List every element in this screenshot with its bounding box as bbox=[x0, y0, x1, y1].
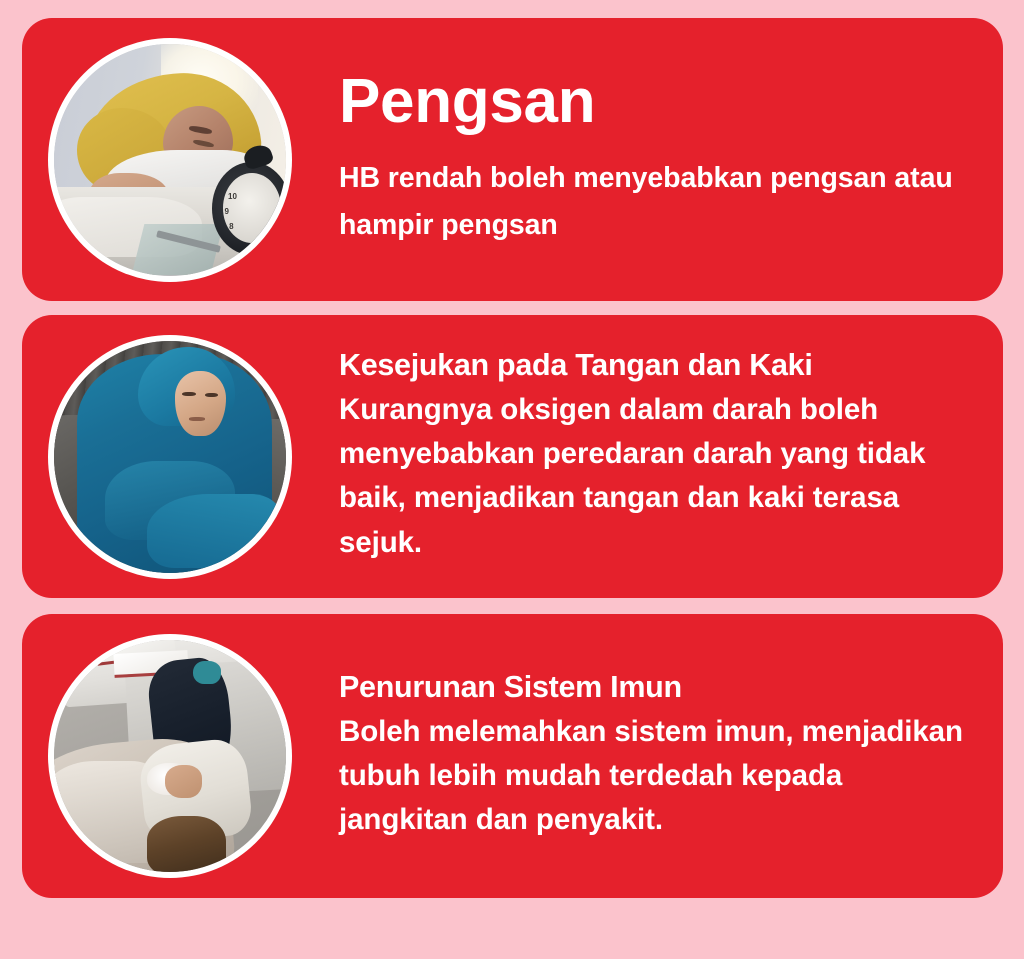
symptom-card-imun: Penurunan Sistem Imun Boleh melemahkan s… bbox=[22, 614, 1003, 898]
symptom-title-imun: Penurunan Sistem Imun bbox=[339, 670, 973, 706]
symptom-text-block-pengsan: Pengsan HB rendah boleh menyebabkan peng… bbox=[292, 71, 1003, 247]
symptom-title-pengsan: Pengsan bbox=[339, 71, 973, 133]
symptom-body-pengsan: HB rendah boleh menyebabkan pengsan atau… bbox=[339, 155, 973, 247]
symptom-body-kesejukan: Kurangnya oksigen dalam darah boleh meny… bbox=[339, 388, 973, 565]
hand-shape bbox=[165, 765, 202, 797]
symptom-body-imun: Boleh melemahkan sistem imun, menjadikan… bbox=[339, 710, 973, 843]
cold-woman-face-shape bbox=[175, 371, 226, 436]
blanket-fold-lower-shape bbox=[147, 494, 282, 568]
symptom-card-pengsan: 10 9 8 Pengsan HB rendah boleh menyebabk… bbox=[22, 18, 1003, 301]
symptom-text-block-imun: Penurunan Sistem Imun Boleh melemahkan s… bbox=[292, 670, 1003, 843]
photo-woman-blue-blanket bbox=[54, 341, 286, 573]
teal-fabric-shape bbox=[193, 661, 221, 684]
clock-number-9: 9 bbox=[225, 207, 229, 216]
symptom-title-kesejukan: Kesejukan pada Tangan dan Kaki bbox=[339, 348, 973, 384]
photo-sick-person-beige-blanket bbox=[54, 640, 286, 872]
symptom-image-frame-pengsan: 10 9 8 bbox=[48, 38, 292, 282]
alarm-clock-face-shape: 10 9 8 bbox=[223, 173, 281, 243]
photo-sleeping-woman-yellow-hijab: 10 9 8 bbox=[54, 44, 286, 276]
hair-shape bbox=[147, 816, 226, 872]
symptom-image-frame-imun bbox=[48, 634, 292, 878]
symptom-card-kesejukan: Kesejukan pada Tangan dan Kaki Kurangnya… bbox=[22, 315, 1003, 598]
symptom-image-frame-kesejukan bbox=[48, 335, 292, 579]
symptom-text-block-kesejukan: Kesejukan pada Tangan dan Kaki Kurangnya… bbox=[292, 348, 1003, 565]
right-eye-shape bbox=[205, 393, 218, 398]
symptom-list-infographic: 10 9 8 Pengsan HB rendah boleh menyebabk… bbox=[0, 0, 1024, 959]
clock-number-8: 8 bbox=[229, 222, 233, 231]
mouth-shape bbox=[189, 417, 205, 421]
clock-number-10: 10 bbox=[228, 192, 237, 201]
left-eye-shape bbox=[182, 392, 196, 397]
